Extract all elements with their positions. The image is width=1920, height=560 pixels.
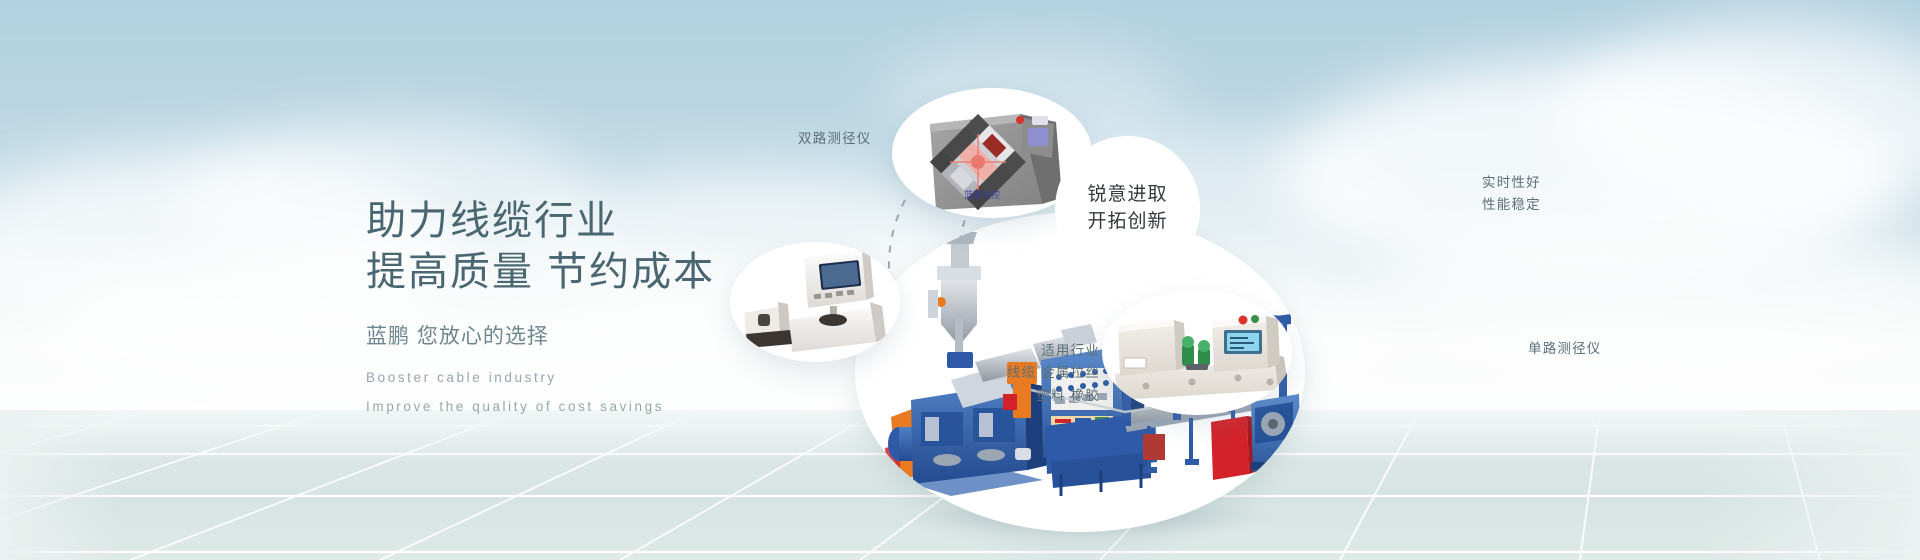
label-industries-line-3: 塑料 橡胶 — [700, 385, 1100, 407]
bubble-single-gauge — [1102, 290, 1292, 415]
label-industries-line-2: 线缆 金属拉丝 — [700, 362, 1100, 384]
bubble-slogan: 锐意进取 开拓创新 — [1055, 136, 1200, 281]
hero-banner: 助力线缆行业 提高质量 节约成本 蓝鹏 您放心的选择 Booster cable… — [0, 0, 1920, 560]
product-composition: 蓝鹏测控 — [700, 0, 1920, 560]
slogan-line-1: 锐意进取 — [1087, 182, 1167, 209]
label-performance: 实时性好 性能稳定 — [1482, 172, 1541, 217]
slogan-text: 锐意进取 开拓创新 — [1087, 182, 1167, 236]
slogan-line-2: 开拓创新 — [1087, 209, 1167, 236]
label-performance-line-1: 实时性好 — [1482, 172, 1541, 194]
grid-left-fade — [0, 410, 120, 560]
device-brand-text: 蓝鹏测控 — [964, 189, 1000, 200]
label-dual-gauge: 双路测径仪 — [798, 128, 872, 150]
single-gauge-illustration — [1102, 290, 1292, 415]
label-industries: 适用行业 线缆 金属拉丝 塑料 橡胶 — [700, 340, 1100, 407]
label-single-gauge: 单路测径仪 — [1528, 338, 1602, 360]
label-performance-line-2: 性能稳定 — [1482, 194, 1541, 216]
label-industries-line-1: 适用行业 — [700, 340, 1100, 362]
